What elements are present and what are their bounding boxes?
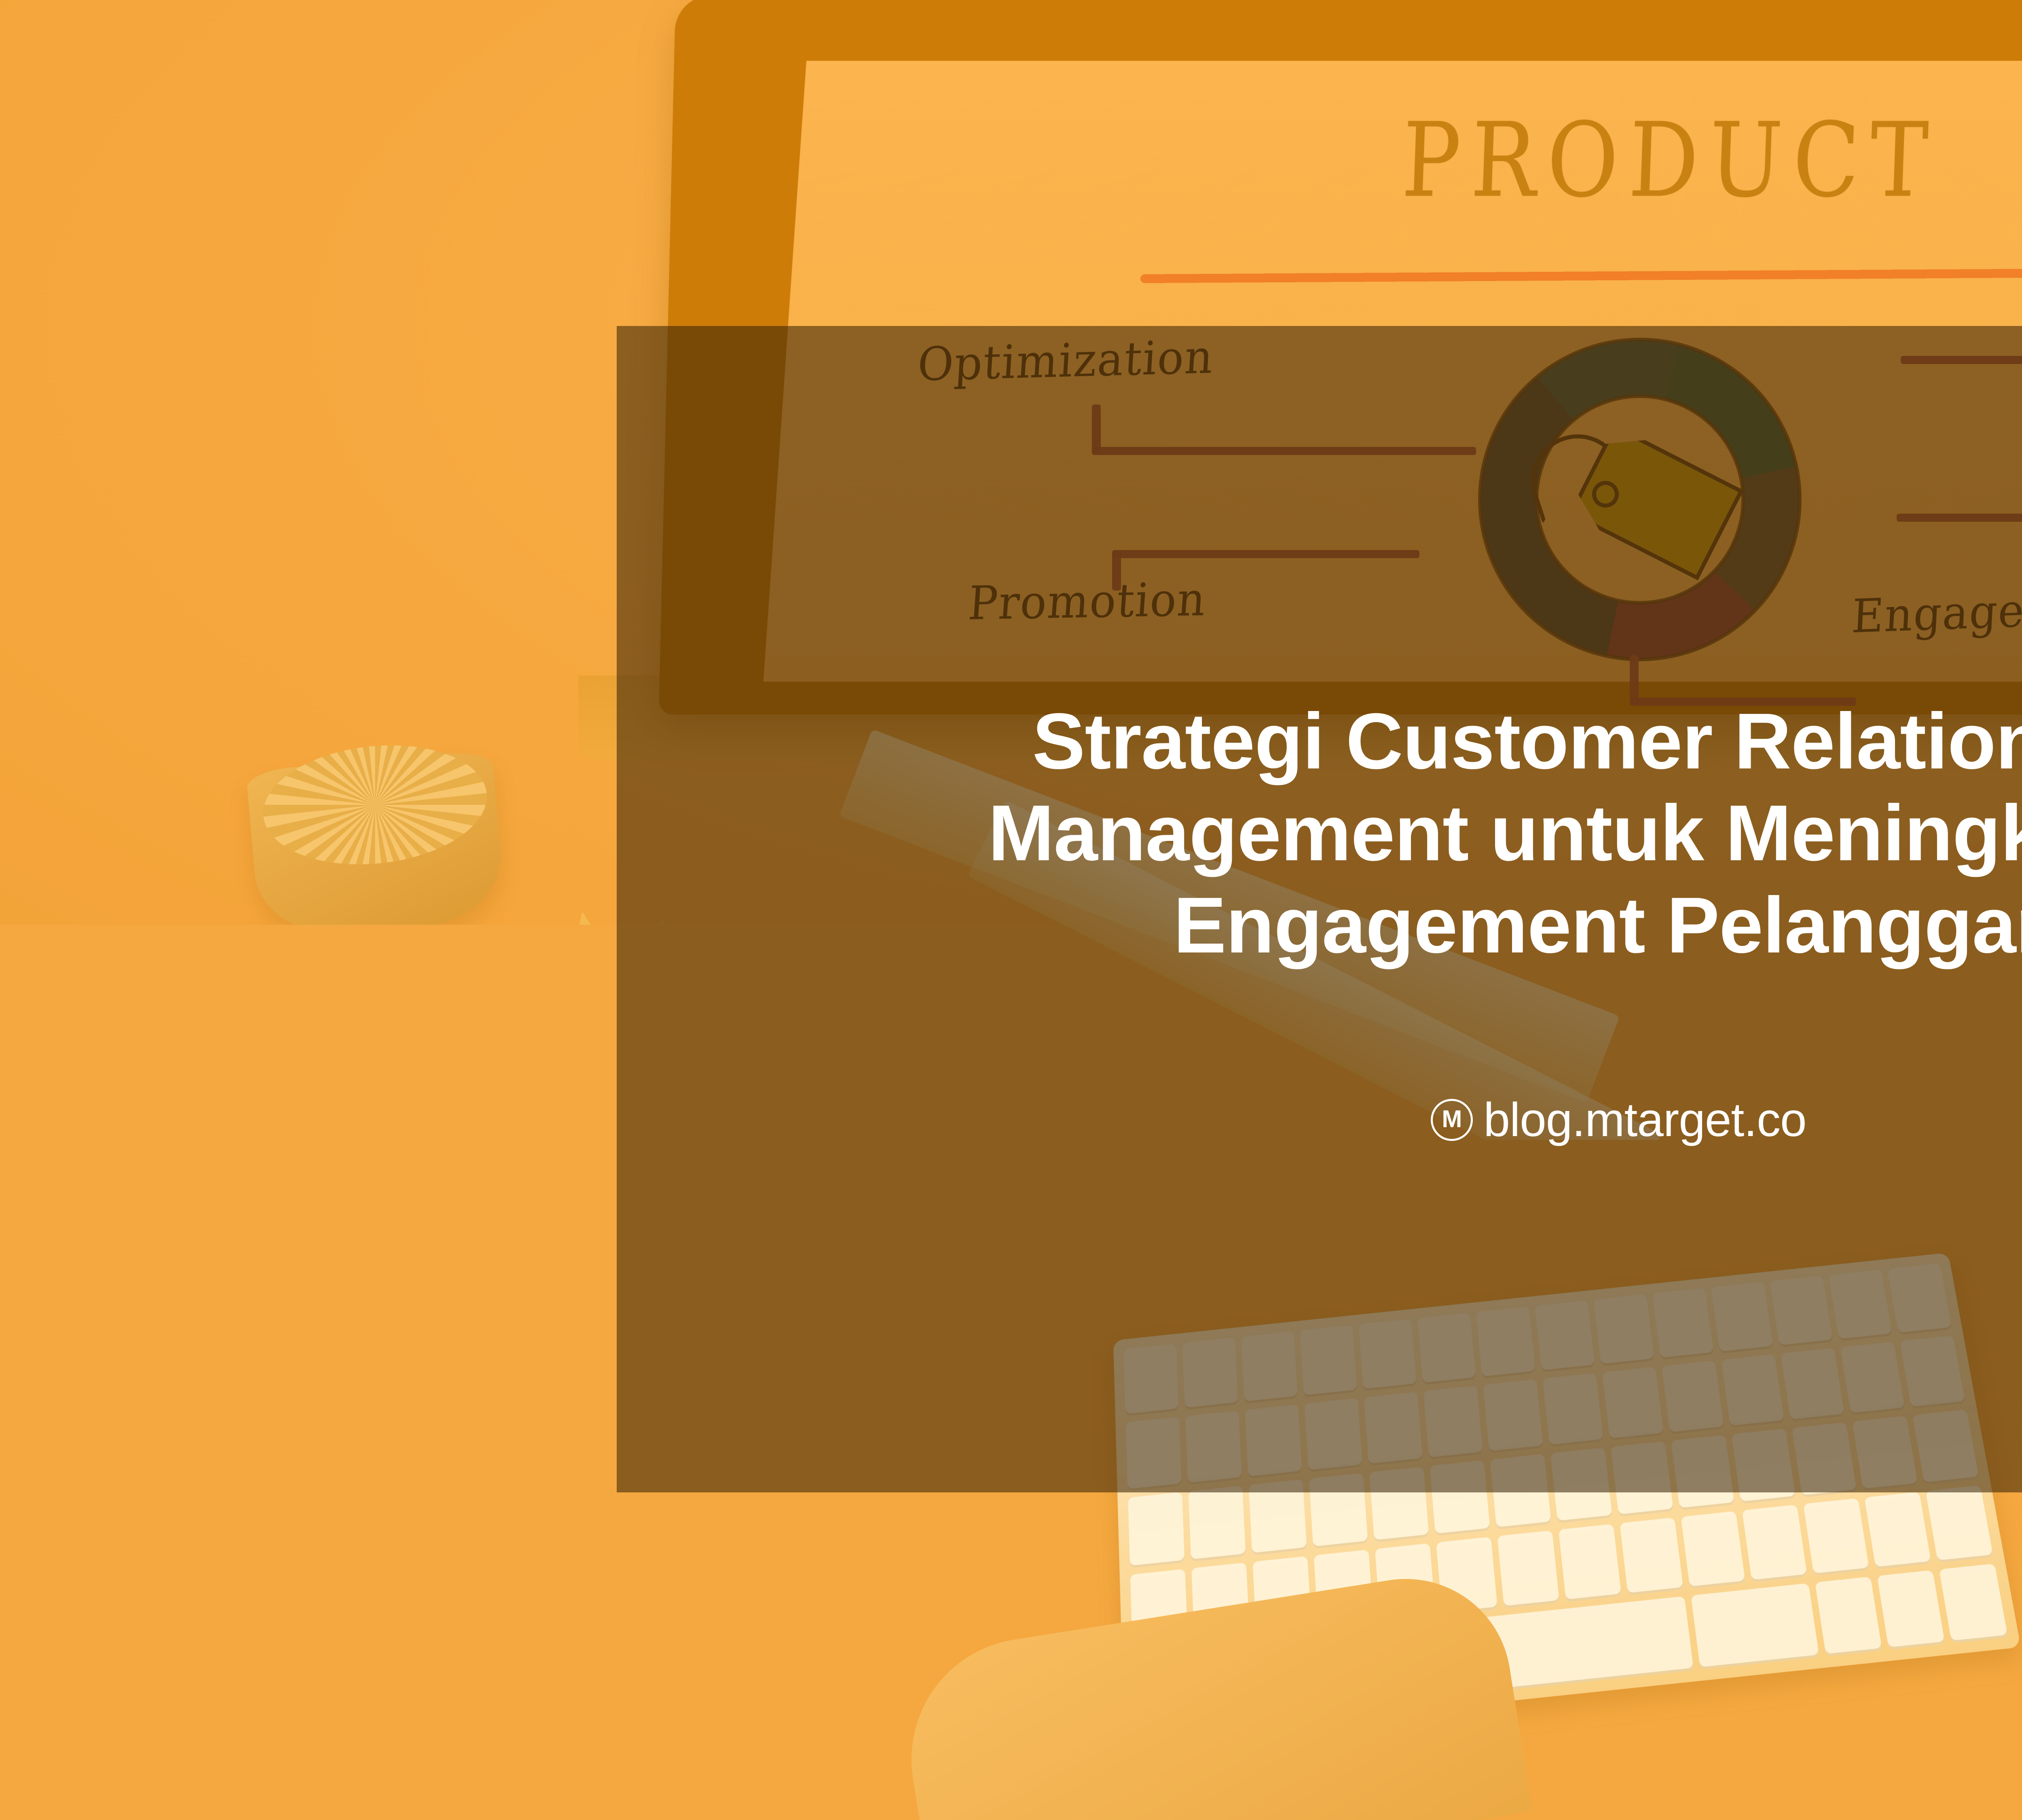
- mtarget-logo-icon: M: [1431, 1099, 1473, 1141]
- banner-image: PRODUCT Optimization Content Customer Pr…: [0, 0, 2022, 1820]
- page-title-line-3: Engagement Pelanggan: [685, 879, 2022, 971]
- brand-row: M blog.mtarget.co: [1431, 1092, 1806, 1147]
- page-title-line-2: Management untuk Meningkatkan: [685, 787, 2022, 879]
- title-overlay-panel: Strategi Customer Relationship Managemen…: [617, 326, 2022, 1492]
- notebook-front: [0, 1241, 526, 1820]
- product-heading: PRODUCT: [1284, 109, 2022, 218]
- page-title-line-1: Strategi Customer Relationship: [685, 695, 2022, 787]
- brand-site-url: blog.mtarget.co: [1483, 1092, 1806, 1147]
- page-title: Strategi Customer Relationship Managemen…: [617, 695, 2022, 971]
